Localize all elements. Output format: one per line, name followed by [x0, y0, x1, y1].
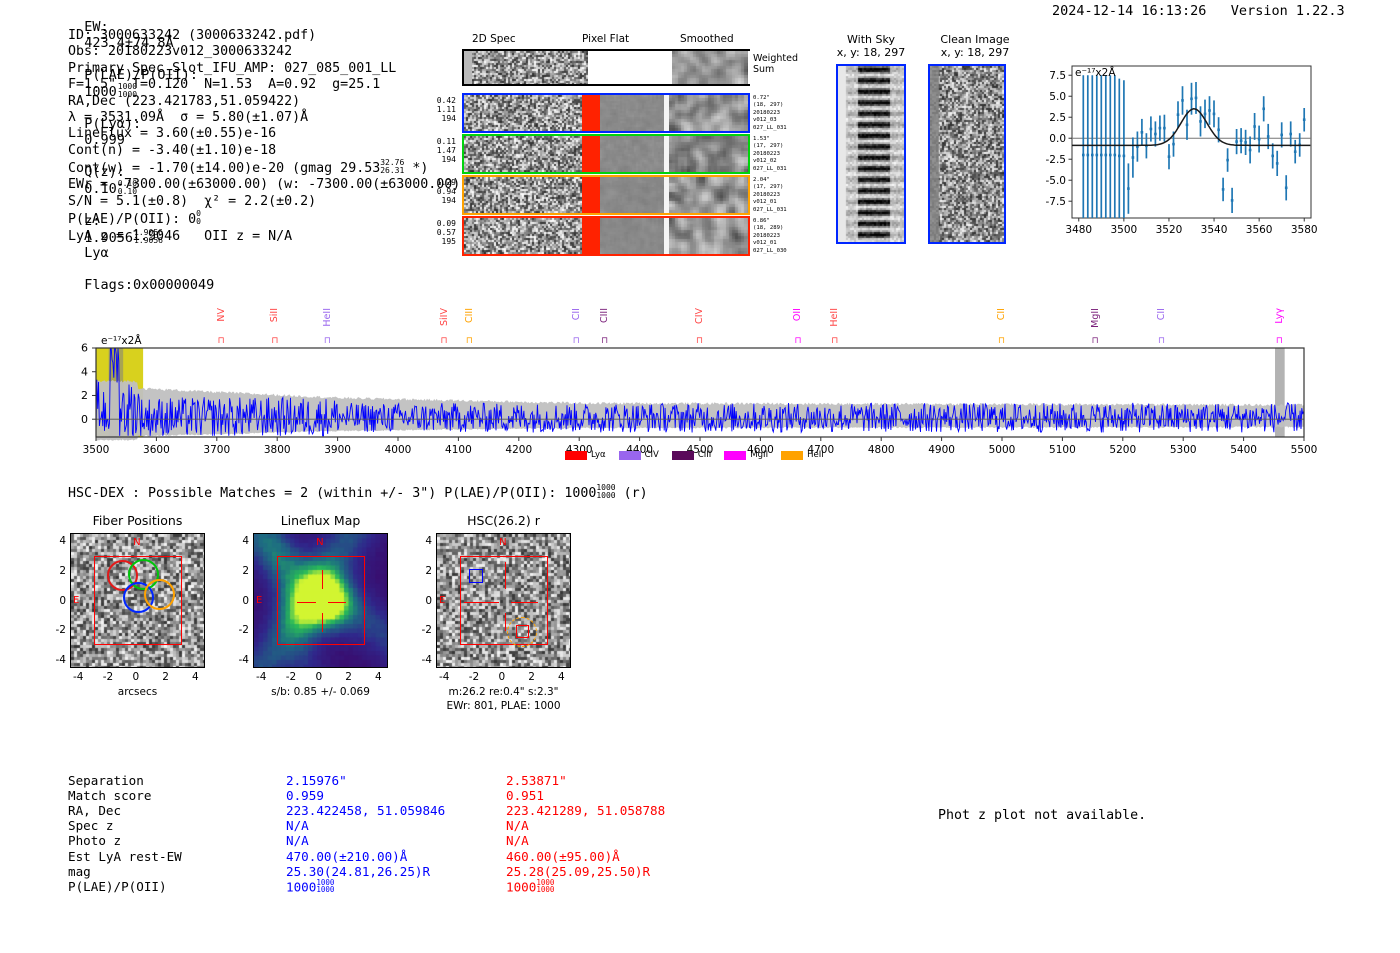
emission-line-chart: 348035003520354035603580-7.5-5.0-2.50.02…: [1032, 44, 1317, 244]
spectral-line-tick-3: ⊓: [441, 336, 448, 346]
object-info-block: ID: 3000633242 (3000633242.pdf) Obs: 201…: [68, 28, 468, 245]
spectral-line-tick-7: ⊓: [696, 336, 703, 346]
svg-text:4800: 4800: [868, 444, 895, 456]
match-col2-value-2: 223.421289, 51.058788: [506, 803, 665, 818]
legend-label-4: HeII: [807, 450, 824, 460]
hsc-panel-title-1: Lineflux Map: [233, 513, 408, 528]
svg-text:4: 4: [81, 365, 88, 378]
fiber-circle-3: [144, 579, 175, 610]
svg-text:3500: 3500: [1110, 224, 1137, 236]
photz-message: Phot z plot not available.: [938, 808, 1146, 823]
spectral-line-label-mgii-11: MgII: [1090, 308, 1101, 328]
legend-item-ciii: CIII: [672, 450, 711, 460]
hsc-xtick-2-0: -4: [439, 671, 449, 683]
match-marker-blue: [469, 569, 483, 583]
match-row-label-3: Spec z: [68, 818, 114, 833]
svg-text:5000: 5000: [989, 444, 1016, 456]
spectral-line-label-siii-1: SiII: [269, 308, 280, 322]
compass-east-0: E: [73, 595, 79, 606]
hsc-xtick-2-2: 0: [499, 671, 506, 683]
hsc-xtick-1-1: -2: [286, 671, 296, 683]
compass-north-1: N: [316, 537, 323, 548]
hsc-ytick-2-1: 2: [416, 565, 432, 577]
legend-item-lyα: Lyα: [565, 450, 606, 460]
hsc-ytick-0-2: 0: [50, 595, 66, 607]
svg-text:5400: 5400: [1230, 444, 1257, 456]
svg-text:5200: 5200: [1109, 444, 1136, 456]
hsc-xlabel-0: arcsecs: [50, 686, 225, 698]
fiber-strip-1-meta: 0.72" (18, 297) 20180223 v012_03 027_LL_…: [753, 95, 793, 132]
spectral-line-label-nv-0: NV: [216, 308, 227, 322]
hsc-xtick-0-3: 2: [162, 671, 169, 683]
svg-text:3800: 3800: [264, 444, 291, 456]
spectral-line-tick-13: ⊓: [1276, 336, 1283, 346]
spectral-line-tick-2: ⊓: [324, 336, 331, 346]
fiber-strip-2-meta: 1.53" (17, 297) 20180223 v012_02 027_LL_…: [753, 136, 793, 173]
spectral-line-label-cii-10: CII: [996, 308, 1007, 320]
hsc-xtick-1-4: 4: [375, 671, 382, 683]
match-col1-value-4: N/A: [286, 833, 309, 848]
info-id: ID: 3000633242 (3000633242.pdf): [68, 28, 468, 44]
svg-text:5.0: 5.0: [1049, 91, 1066, 103]
svg-text:3540: 3540: [1201, 224, 1228, 236]
spectral-line-label-heii-2: HeII: [322, 308, 333, 327]
fiber-strip-2-stats: 0.111.47194: [428, 137, 456, 165]
info-radec: RA,Dec (223.421783,51.059422): [68, 94, 468, 110]
svg-text:4000: 4000: [385, 444, 412, 456]
svg-text:3580: 3580: [1291, 224, 1317, 236]
compass-east-2: E: [439, 595, 445, 606]
match-col1-value-5: 470.00(±210.00)Å: [286, 849, 407, 864]
weighted-sum-label: WeightedSum: [753, 53, 798, 75]
hsc-ytick-2-4: -4: [416, 654, 432, 666]
hsc-ytick-1-4: -4: [233, 654, 249, 666]
hsc-ytick-1-1: 2: [233, 565, 249, 577]
hsc-ytick-0-3: -2: [50, 624, 66, 636]
info-cont-w: Cont(w) = -1.70(±14.00)e-20 (gmag 29.533…: [68, 159, 468, 177]
strip-title-smoothed: Smoothed: [680, 33, 734, 45]
spectral-line-tick-8: ⊓: [794, 336, 801, 346]
match-col2-value-1: 0.951: [506, 788, 544, 803]
hsc-panel-title-2: HSC(26.2) r: [416, 513, 591, 528]
fiber-strip-3-meta: 2.04" (17, 297) 20180223 v012_01 027_LL_…: [753, 177, 793, 214]
hsc-panel-image-1[interactable]: NE: [253, 533, 388, 668]
hsc-caption-2: m:26.2 re:0.4" s:2.3": [401, 686, 606, 698]
spectral-line-tick-12: ⊓: [1158, 336, 1165, 346]
svg-text:3560: 3560: [1246, 224, 1273, 236]
match-row-label-7: P(LAE)/P(OII): [68, 879, 167, 894]
legend-label-0: Lyα: [591, 450, 606, 460]
svg-text:0: 0: [81, 413, 88, 426]
hsc-ytick-1-2: 0: [233, 595, 249, 607]
hsc-ytick-2-3: -2: [416, 624, 432, 636]
fiber-strip-4-meta: 0.86" (18, 289) 20180223 v012_01 027_LL_…: [753, 218, 793, 255]
match-col2-value-4: N/A: [506, 833, 529, 848]
hsc-dex-title: HSC-DEX : Possible Matches = 2 (within +…: [68, 484, 648, 501]
hsc-ytick-0-0: 4: [50, 535, 66, 547]
svg-text:5100: 5100: [1049, 444, 1076, 456]
legend-label-3: MgII: [750, 450, 768, 460]
svg-text:5500: 5500: [1291, 444, 1318, 456]
hsc-ytick-0-4: -4: [50, 654, 66, 666]
info-params: F=1.5" T=0.120 N=1.53 A=0.92 g=25.1: [68, 77, 468, 93]
spectral-line-tick-4: ⊓: [466, 336, 473, 346]
svg-text:3600: 3600: [143, 444, 170, 456]
info-plae-range: 00: [196, 210, 201, 226]
strip-title-pixelflat: Pixel Flat: [582, 33, 629, 45]
svg-text:2.5: 2.5: [1049, 112, 1066, 124]
compass-north-0: N: [133, 537, 140, 548]
info-slot: Primary Spec_Slot_IFU_AMP: 027_085_001_L…: [68, 61, 468, 77]
info-cont-n: Cont(n) = -3.40(±1.10)e-18: [68, 143, 468, 159]
weighted-sum-strip: [462, 49, 750, 86]
spectral-line-tick-1: ⊓: [271, 336, 278, 346]
with-sky-caption: With Sky x, y: 18, 297: [816, 33, 926, 59]
fiber-strip-4-stats: 0.090.57195: [428, 219, 456, 247]
legend-label-2: CIII: [698, 450, 711, 460]
svg-text:3700: 3700: [203, 444, 230, 456]
info-ewr: EWr = -7300.00(±63000.00) (w: -7300.00(±…: [68, 177, 468, 193]
legend-item-heii: HeII: [781, 450, 824, 460]
spectral-line-label-lyγ-13: Lyγ: [1274, 308, 1285, 324]
spectral-line-label-cii-12: CII: [1156, 308, 1167, 320]
hsc-xtick-0-2: 0: [133, 671, 140, 683]
fiber-strip-3: [462, 175, 750, 215]
svg-text:5300: 5300: [1170, 444, 1197, 456]
fiber-strip-1: [462, 93, 750, 133]
fiber-strip-4: [462, 216, 750, 256]
with-sky-image: [836, 64, 906, 244]
full-spectrum-chart: 3500360037003800390040004100420043004400…: [0, 300, 1400, 465]
svg-text:3500: 3500: [83, 444, 110, 456]
match-row-label-0: Separation: [68, 773, 144, 788]
info-lambda: λ = 3531.09Å σ = 5.80(±1.07)Å: [68, 110, 468, 126]
svg-text:e⁻¹⁷x2Å: e⁻¹⁷x2Å: [101, 334, 142, 347]
legend-label-1: CIV: [645, 450, 659, 460]
match-col1-value-0: 2.15976": [286, 773, 347, 788]
svg-text:-7.5: -7.5: [1046, 196, 1067, 208]
line-name: Lyα: [84, 245, 108, 261]
svg-text:0.0: 0.0: [1049, 133, 1066, 145]
match-col1-value-1: 0.959: [286, 788, 324, 803]
clean-image: [928, 64, 1006, 244]
strip-title-2dspec: 2D Spec: [472, 33, 516, 45]
spectral-line-tick-11: ⊓: [1092, 336, 1099, 346]
svg-text:3900: 3900: [324, 444, 351, 456]
legend-item-mgii: MgII: [724, 450, 768, 460]
hsc-xtick-1-0: -4: [256, 671, 266, 683]
hsc-ytick-1-0: 4: [233, 535, 249, 547]
match-col1-value-6: 25.30(24.81,26.25)R: [286, 864, 430, 879]
info-obs: Obs: 20180223v012_3000633242: [68, 44, 468, 60]
svg-text:3520: 3520: [1156, 224, 1183, 236]
hsc-ytick-0-1: 2: [50, 565, 66, 577]
clean-image-caption: Clean Image x, y: 18, 297: [915, 33, 1035, 59]
match-col1-value-3: N/A: [286, 818, 309, 833]
hsc-panel-group: Fiber PositionsNE-4-2024420-2-4arcsecsLi…: [0, 505, 700, 735]
hsc-plae-range: 10001000: [596, 484, 615, 500]
hsc-caption-1: s/b: 0.85 +/- 0.069: [218, 686, 423, 698]
match-marker-red: [516, 625, 529, 638]
spectral-line-tick-9: ⊓: [831, 336, 838, 346]
hsc-panel-image-0[interactable]: NE: [70, 533, 205, 668]
match-row-label-1: Match score: [68, 788, 151, 803]
legend-swatch-1: [619, 451, 641, 460]
svg-text:-5.0: -5.0: [1046, 175, 1067, 187]
svg-text:6: 6: [81, 342, 88, 355]
fiber-strip-3-stats: 1.290.94194: [428, 178, 456, 206]
legend-item-civ: CIV: [619, 450, 659, 460]
hsc-xtick-1-3: 2: [345, 671, 352, 683]
spectral-line-label-siiv-3: SiIV: [439, 308, 450, 326]
spectral-line-label-ciii-4: CIII: [464, 308, 475, 323]
flags-value: Flags:0x00000049: [84, 277, 214, 293]
legend-swatch-0: [565, 451, 587, 460]
legend-swatch-2: [672, 451, 694, 460]
svg-text:2: 2: [81, 389, 88, 402]
svg-text:-2.5: -2.5: [1046, 154, 1067, 166]
hsc-xtick-1-2: 0: [316, 671, 323, 683]
timestamp-version: 2024-12-14 16:13:26 Version 1.22.3: [1052, 3, 1345, 19]
spectral-line-tick-0: ⊓: [218, 336, 225, 346]
fiber-strip-2: [462, 134, 750, 174]
hsc-caption2-2: EWr: 801, PLAE: 1000: [401, 700, 606, 712]
gmag-range: 32.7626.31: [380, 159, 404, 175]
match-row-label-5: Est LyA rest-EW: [68, 849, 182, 864]
match-row-label-6: mag: [68, 864, 91, 879]
hsc-panel-image-2[interactable]: NE: [436, 533, 571, 668]
spectral-line-tick-10: ⊓: [998, 336, 1005, 346]
match-col2-value-5: 460.00(±95.00)Å: [506, 849, 620, 864]
spectral-line-label-civ-7: CIV: [694, 308, 705, 324]
spectrum-legend: LyαCIVCIIIMgIIHeII: [565, 450, 824, 460]
hsc-xtick-0-1: -2: [103, 671, 113, 683]
svg-text:4200: 4200: [505, 444, 532, 456]
hsc-panel-title-0: Fiber Positions: [50, 513, 225, 528]
spectral-line-label-ciii-6: CIII: [599, 308, 610, 323]
hsc-xtick-0-0: -4: [73, 671, 83, 683]
svg-text:4900: 4900: [928, 444, 955, 456]
compass-north-2: N: [499, 537, 506, 548]
hsc-ytick-2-0: 4: [416, 535, 432, 547]
spec2d-panel-group: 2D Spec Pixel Flat Smoothed WeightedSum …: [440, 33, 785, 248]
spectral-line-label-cii-5: CII: [571, 308, 582, 320]
svg-text:e⁻¹⁷x2Å: e⁻¹⁷x2Å: [1075, 66, 1116, 79]
info-sn: S/N = 5.1(±0.8) χ² = 2.2(±0.2): [68, 194, 468, 210]
legend-swatch-3: [724, 451, 746, 460]
spectral-line-tick-6: ⊓: [601, 336, 608, 346]
match-col2-value-3: N/A: [506, 818, 529, 833]
match-col2-value-7: 100010001000: [506, 879, 554, 894]
spectral-line-label-heii-9: HeII: [829, 308, 840, 327]
spectral-line-label-oii-8: OII: [792, 308, 803, 321]
hsc-ytick-1-3: -2: [233, 624, 249, 636]
fiber-strip-1-stats: 0.421.11194: [428, 96, 456, 124]
spectral-line-tick-5: ⊓: [573, 336, 580, 346]
svg-text:7.5: 7.5: [1049, 70, 1066, 82]
match-row-label-4: Photo z: [68, 833, 121, 848]
match-col1-value-7: 100010001000: [286, 879, 334, 894]
hsc-xtick-2-1: -2: [469, 671, 479, 683]
info-redshift: LyA z = 1.9046 OII z = N/A: [68, 229, 468, 245]
info-plae: P(LAE)/P(OII): 000: [68, 210, 468, 228]
svg-text:3480: 3480: [1065, 224, 1092, 236]
info-lineflux: LineFlux = 3.60(±0.55)e-16: [68, 126, 468, 142]
hsc-xtick-2-4: 4: [558, 671, 565, 683]
svg-text:4100: 4100: [445, 444, 472, 456]
match-col1-value-2: 223.422458, 51.059846: [286, 803, 445, 818]
hsc-xtick-0-4: 4: [192, 671, 199, 683]
hsc-ytick-2-2: 0: [416, 595, 432, 607]
compass-east-1: E: [256, 595, 262, 606]
hsc-xtick-2-3: 2: [528, 671, 535, 683]
legend-swatch-4: [781, 451, 803, 460]
match-col2-value-0: 2.53871": [506, 773, 567, 788]
match-row-label-2: RA, Dec: [68, 803, 121, 818]
match-col2-value-6: 25.28(25.09,25.50)R: [506, 864, 650, 879]
